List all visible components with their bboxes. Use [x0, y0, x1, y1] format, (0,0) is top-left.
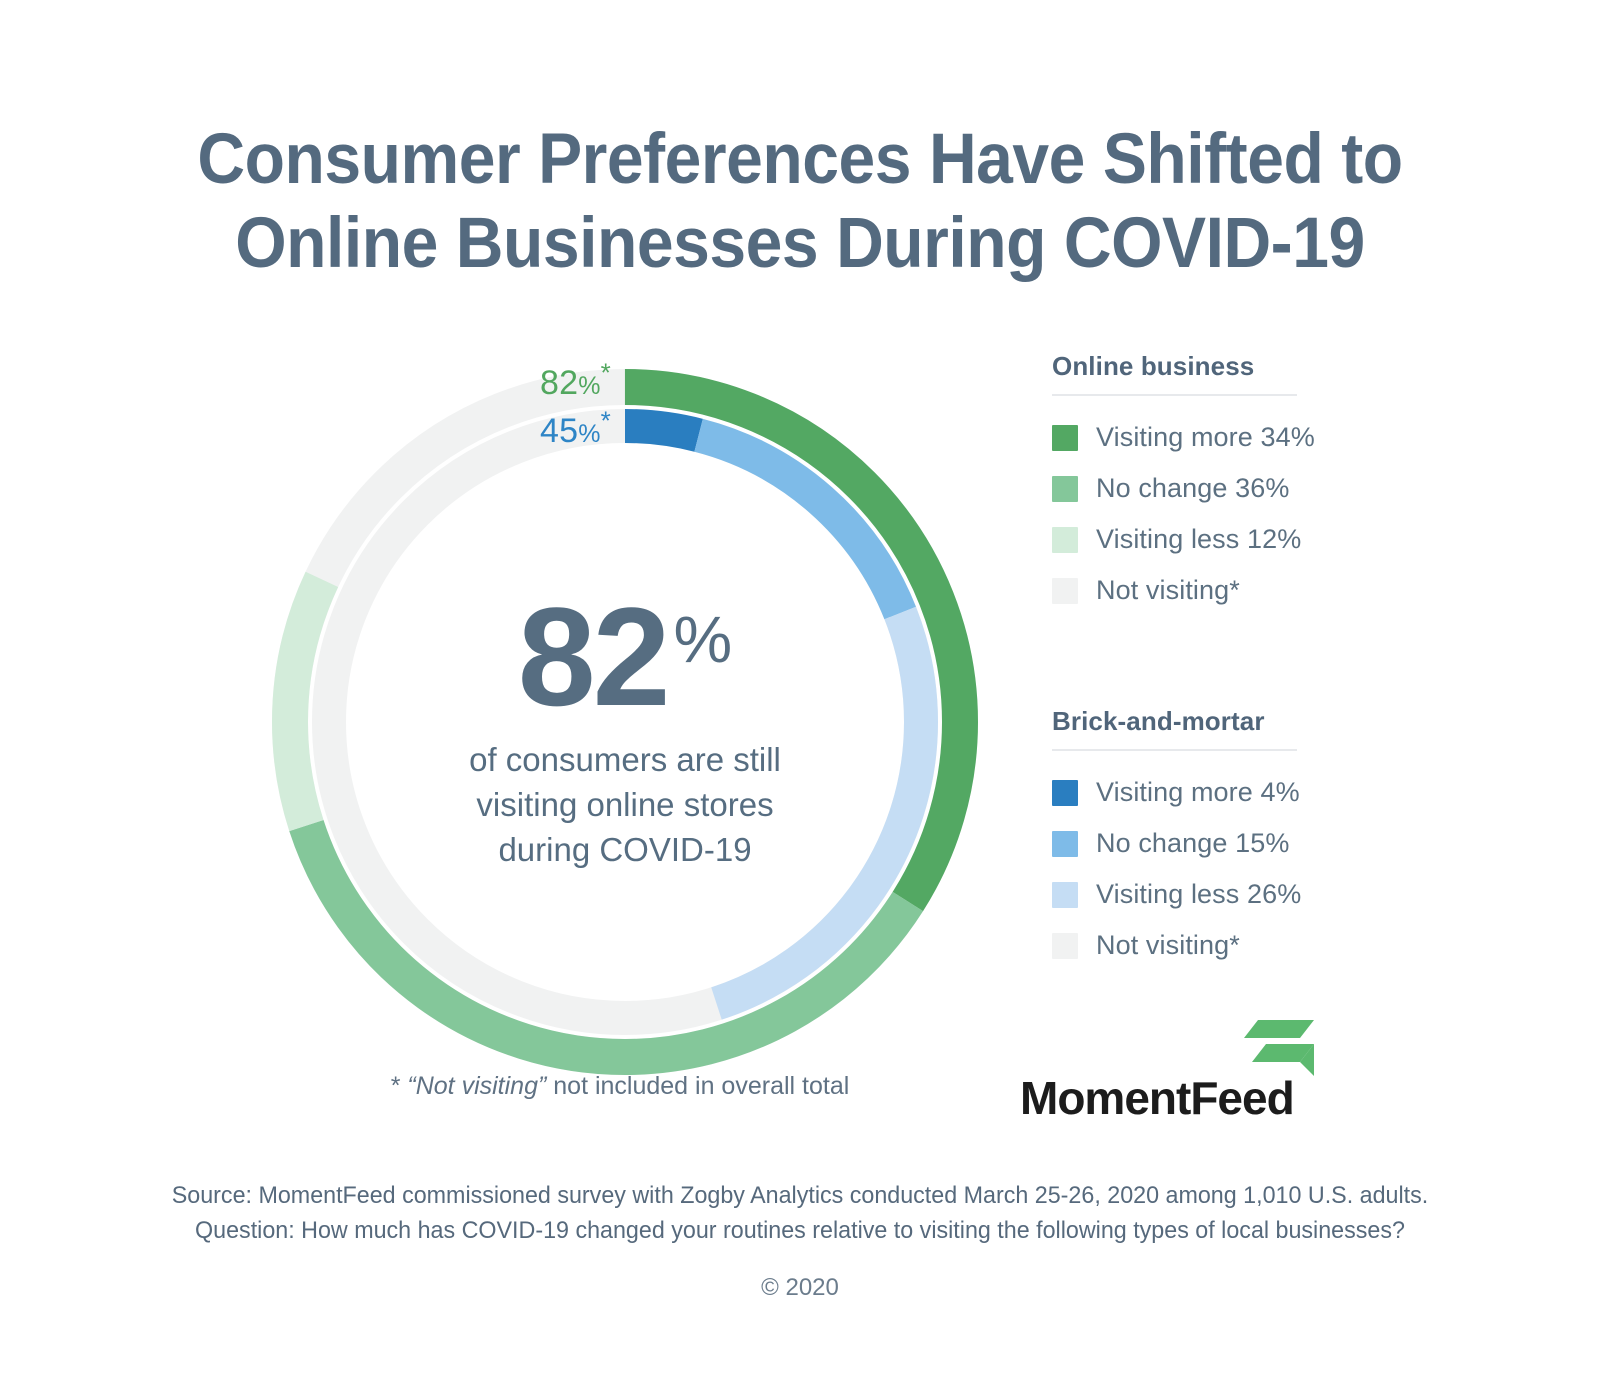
legend-item-label: Visiting less 26% — [1096, 879, 1301, 910]
headline-stat: 82 % — [375, 590, 875, 723]
legend-item-label: No change 36% — [1096, 473, 1289, 504]
legend-item-label: Visiting less 12% — [1096, 524, 1301, 555]
headline-description: of consumers are still visiting online s… — [375, 737, 875, 872]
legend-item-bnm-not-visiting[interactable]: Not visiting* — [1052, 930, 1382, 961]
legend-online-business-title: Online business — [1052, 351, 1382, 394]
legend-brick-and-mortar: Brick-and-mortar Visiting more 4% No cha… — [1052, 706, 1382, 981]
legend-item-label: Visiting more 34% — [1096, 422, 1315, 453]
legend-swatch-icon — [1052, 831, 1078, 857]
legend-swatch-icon — [1052, 527, 1078, 553]
momentfeed-chevron-icon — [1244, 1020, 1314, 1076]
infographic-page: Consumer Preferences Have Shifted to Onl… — [0, 0, 1600, 1387]
legend-swatch-icon — [1052, 425, 1078, 451]
legend-item-online-visiting-more[interactable]: Visiting more 34% — [1052, 422, 1382, 453]
legend-online-business: Online business Visiting more 34% No cha… — [1052, 351, 1382, 626]
legend-swatch-icon — [1052, 780, 1078, 806]
headline-number: 82 — [518, 590, 668, 723]
legend-divider — [1052, 749, 1297, 751]
headline-desc-line-2: visiting online stores — [375, 782, 875, 827]
callout-bnm-total: 45%* — [540, 412, 611, 451]
legend-item-online-not-visiting[interactable]: Not visiting* — [1052, 575, 1382, 606]
legend-item-bnm-visiting-more[interactable]: Visiting more 4% — [1052, 777, 1382, 808]
source-block: Source: MomentFeed commissioned survey w… — [0, 1178, 1600, 1302]
footnote-asterisk: * — [391, 1072, 408, 1100]
legend-item-label: Not visiting* — [1096, 930, 1240, 961]
source-line-2: Question: How much has COVID-19 changed … — [24, 1213, 1576, 1248]
callout-bnm-value: 45 — [540, 412, 578, 450]
callout-online-value: 82 — [540, 364, 578, 402]
legend-swatch-icon — [1052, 476, 1078, 502]
legend-item-label: No change 15% — [1096, 828, 1289, 859]
copyright-text: © 2020 — [0, 1274, 1600, 1302]
callout-bnm-percent: % — [578, 420, 600, 448]
page-title: Consumer Preferences Have Shifted to Onl… — [0, 118, 1600, 286]
legend-item-label: Visiting more 4% — [1096, 777, 1300, 808]
headline-desc-line-3: during COVID-19 — [375, 827, 875, 872]
legend-divider — [1052, 394, 1297, 396]
legend-item-online-no-change[interactable]: No change 36% — [1052, 473, 1382, 504]
callout-bnm-asterisk: * — [601, 406, 611, 436]
legend-item-bnm-no-change[interactable]: No change 15% — [1052, 828, 1382, 859]
headline-desc-line-1: of consumers are still — [375, 737, 875, 782]
donut-center-text: 82 % of consumers are still visiting onl… — [375, 590, 875, 872]
legend-swatch-icon — [1052, 933, 1078, 959]
legend-item-online-visiting-less[interactable]: Visiting less 12% — [1052, 524, 1382, 555]
callout-online-asterisk: * — [601, 358, 611, 388]
headline-percent-sign: % — [674, 606, 733, 672]
footnote-rest: not included in overall total — [546, 1072, 849, 1100]
callout-online-total: 82%* — [540, 364, 611, 403]
footnote-quoted-term: “Not visiting” — [407, 1072, 546, 1100]
callout-online-percent: % — [578, 372, 600, 400]
legend-swatch-icon — [1052, 882, 1078, 908]
momentfeed-wordmark: MomentFeed — [1020, 1071, 1294, 1125]
legend-item-bnm-visiting-less[interactable]: Visiting less 26% — [1052, 879, 1382, 910]
legend-brick-and-mortar-title: Brick-and-mortar — [1052, 706, 1382, 749]
legend-item-label: Not visiting* — [1096, 575, 1240, 606]
momentfeed-logo[interactable]: MomentFeed — [1020, 1020, 1320, 1125]
legend-swatch-icon — [1052, 578, 1078, 604]
title-line-2: Online Businesses During COVID-19 — [56, 202, 1544, 286]
source-line-1: Source: MomentFeed commissioned survey w… — [24, 1178, 1576, 1213]
title-line-1: Consumer Preferences Have Shifted to — [56, 118, 1544, 202]
footnote: * “Not visiting” not included in overall… — [300, 1072, 940, 1101]
donut-chart: 82%* 45%* 82 % of consumers are still vi… — [255, 352, 995, 1092]
